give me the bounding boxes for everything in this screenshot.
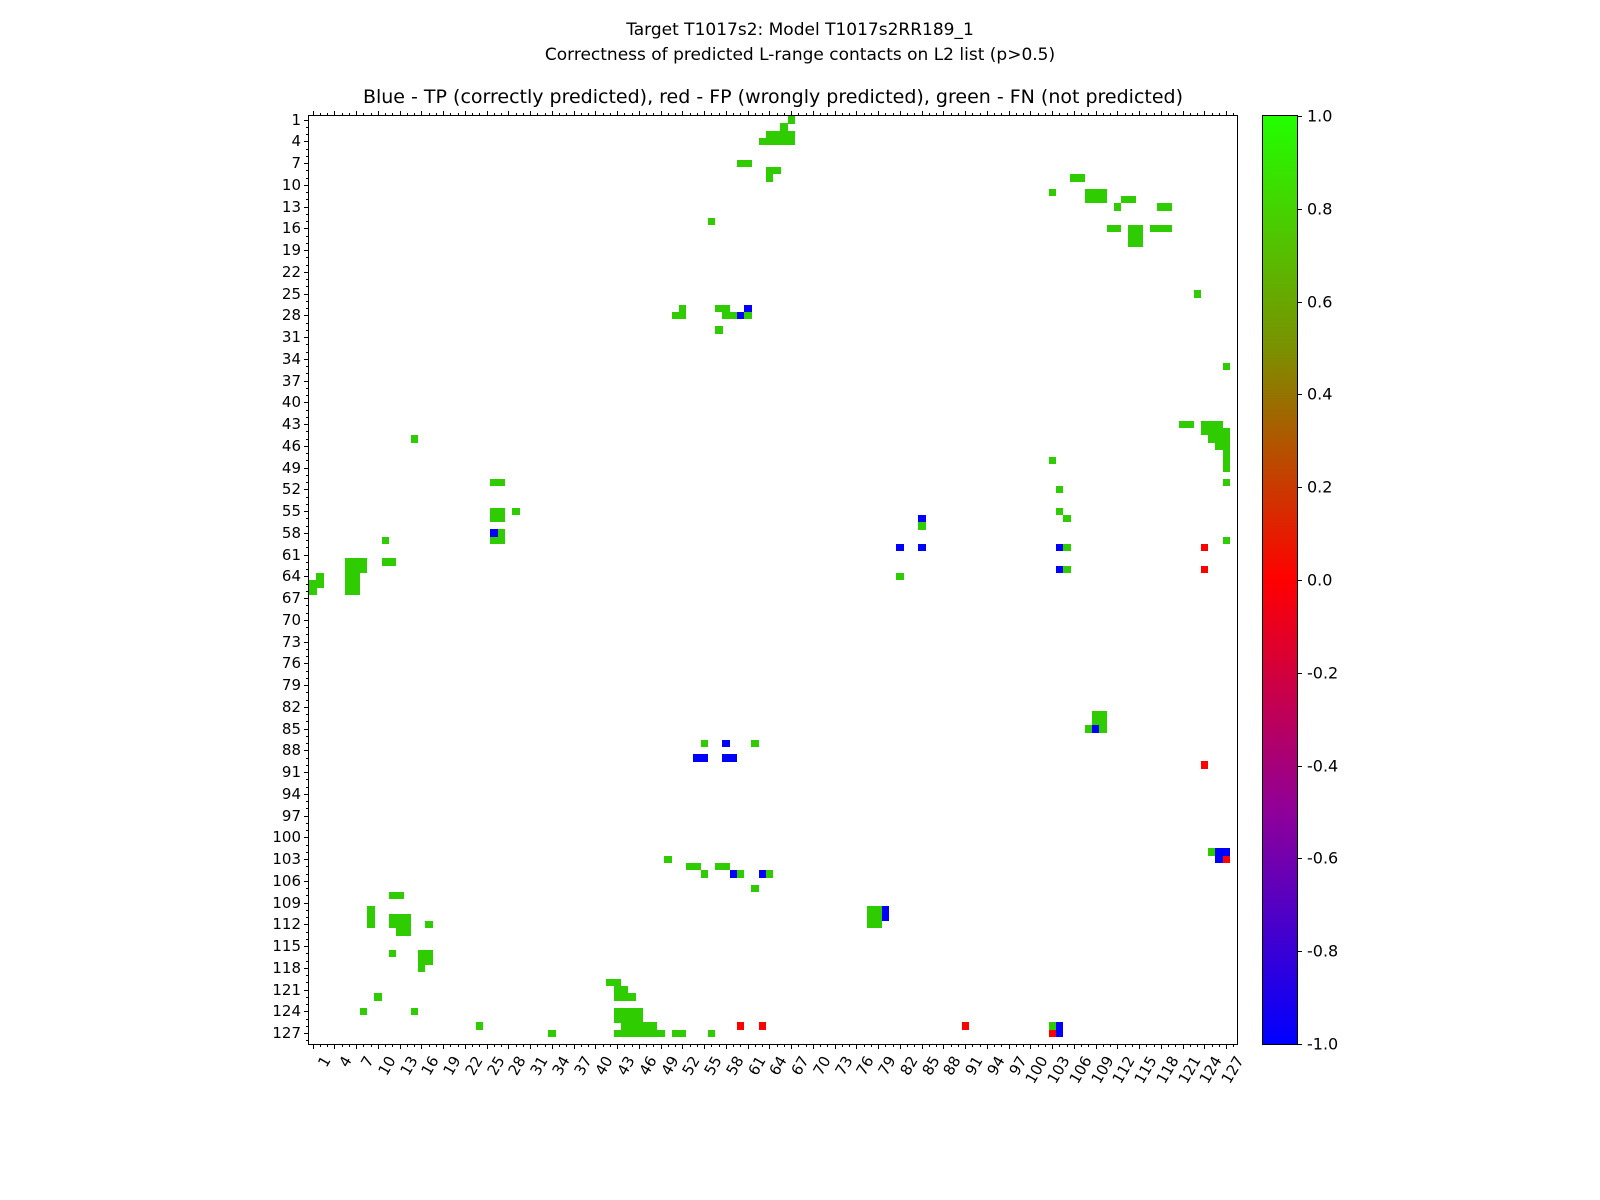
y-tick-minor	[306, 569, 309, 570]
x-tick-minor	[711, 1044, 712, 1047]
x-tick-top	[1001, 113, 1002, 116]
x-tick-top	[1161, 111, 1162, 116]
contact-cell	[759, 1022, 767, 1030]
x-tick-minor	[1110, 1044, 1111, 1047]
x-tick-label: 16	[418, 1053, 443, 1079]
x-tick-top	[501, 113, 502, 116]
y-tick-minor	[306, 975, 309, 976]
y-tick-minor	[306, 591, 309, 592]
x-tick-minor	[1146, 1044, 1147, 1047]
contact-map-plot-area[interactable]: 1471013161922252831343740434649525558616…	[308, 115, 1238, 1045]
contact-cell	[1114, 225, 1122, 233]
y-tick-minor	[306, 917, 309, 918]
x-tick-minor	[697, 1044, 698, 1047]
x-tick-minor	[762, 1044, 763, 1047]
colorbar-tick	[1297, 302, 1302, 303]
x-tick-top	[914, 113, 915, 116]
x-tick-top	[878, 111, 879, 116]
y-tick-label: 70	[282, 611, 301, 629]
x-tick-minor	[653, 1044, 654, 1047]
x-tick-major	[791, 1044, 792, 1049]
x-tick-minor	[392, 1044, 393, 1047]
y-tick-minor	[306, 482, 309, 483]
y-tick-label: 7	[291, 154, 301, 172]
x-tick-minor	[936, 1044, 937, 1047]
contact-cell	[701, 870, 709, 878]
x-tick-major	[965, 1044, 966, 1049]
x-tick-top	[1016, 113, 1017, 116]
x-tick-label: 28	[505, 1053, 530, 1079]
contact-cell	[701, 754, 709, 762]
x-tick-major	[1183, 1044, 1184, 1049]
contact-cell	[316, 580, 324, 588]
y-tick-minor	[306, 497, 309, 498]
y-tick-label: 88	[282, 741, 301, 759]
x-tick-top	[827, 113, 828, 116]
x-tick-minor	[907, 1044, 908, 1047]
y-tick-label: 82	[282, 698, 301, 716]
contact-cell	[1223, 464, 1231, 472]
colorbar-tick	[1297, 1044, 1302, 1045]
contact-cell	[1063, 515, 1071, 523]
x-tick-top	[646, 113, 647, 116]
contact-cell	[1165, 225, 1173, 233]
x-tick-label: 40	[592, 1053, 617, 1079]
x-tick-label: 64	[766, 1053, 791, 1079]
colorbar-gradient	[1263, 116, 1297, 1044]
x-tick-top	[1110, 113, 1111, 116]
contact-cell	[548, 1030, 556, 1038]
x-tick-label: 34	[548, 1053, 573, 1079]
x-tick-minor	[1168, 1044, 1169, 1047]
x-tick-minor	[668, 1044, 669, 1047]
x-tick-minor	[1045, 1044, 1046, 1047]
x-tick-minor	[1212, 1044, 1213, 1047]
x-tick-top	[371, 113, 372, 116]
x-tick-label: 76	[853, 1053, 878, 1079]
y-tick-minor	[306, 127, 309, 128]
y-tick-minor	[306, 134, 309, 135]
x-tick-top	[566, 113, 567, 116]
x-tick-label: 70	[809, 1053, 834, 1079]
x-tick-minor	[414, 1044, 415, 1047]
y-tick-label: 13	[282, 198, 301, 216]
x-tick-top	[1023, 113, 1024, 116]
y-tick-minor	[306, 787, 309, 788]
y-tick-minor	[306, 779, 309, 780]
y-tick-label: 121	[272, 981, 301, 999]
contact-cell	[722, 740, 730, 748]
contact-cell	[1194, 290, 1202, 298]
x-tick-top	[356, 111, 357, 116]
x-tick-minor	[1088, 1044, 1089, 1047]
y-tick-label: 1	[291, 111, 301, 129]
y-tick-minor	[306, 279, 309, 280]
contact-cell	[896, 544, 904, 552]
x-tick-top	[1190, 113, 1191, 116]
contact-cell	[751, 885, 759, 893]
contact-cell	[1049, 189, 1057, 197]
x-tick-top	[1030, 111, 1031, 116]
y-tick-major	[304, 511, 309, 512]
y-tick-minor	[306, 170, 309, 171]
x-tick-top	[980, 113, 981, 116]
contact-cell	[1186, 421, 1194, 429]
colorbar-tick-label: 0.8	[1307, 199, 1332, 218]
contact-cell	[411, 1008, 419, 1016]
x-tick-minor	[740, 1044, 741, 1047]
y-tick-major	[304, 424, 309, 425]
colorbar-tick	[1297, 766, 1302, 767]
x-tick-top	[400, 111, 401, 116]
y-tick-minor	[306, 366, 309, 367]
contact-cell	[1136, 239, 1144, 247]
y-tick-minor	[306, 649, 309, 650]
x-tick-minor	[980, 1044, 981, 1047]
x-tick-minor	[1132, 1044, 1133, 1047]
y-tick-minor	[306, 721, 309, 722]
suptitle-line-2: Correctness of predicted L-range contact…	[0, 43, 1600, 68]
x-tick-label: 19	[440, 1053, 465, 1079]
y-tick-major	[304, 228, 309, 229]
x-tick-top	[530, 111, 531, 116]
y-tick-minor	[306, 845, 309, 846]
colorbar-tick-label: -1.0	[1307, 1035, 1338, 1054]
y-tick-minor	[306, 758, 309, 759]
x-tick-major	[1009, 1044, 1010, 1049]
x-tick-minor	[1175, 1044, 1176, 1047]
y-tick-major	[304, 620, 309, 621]
y-tick-minor	[306, 475, 309, 476]
x-tick-major	[943, 1044, 944, 1049]
y-tick-minor	[306, 656, 309, 657]
x-tick-top	[1139, 111, 1140, 116]
x-tick-top	[1045, 113, 1046, 116]
x-tick-minor	[893, 1044, 894, 1047]
x-tick-top	[603, 113, 604, 116]
y-tick-major	[304, 968, 309, 969]
x-tick-major	[726, 1044, 727, 1049]
contact-cell	[418, 964, 426, 972]
x-tick-minor	[1219, 1044, 1220, 1047]
x-tick-top	[385, 113, 386, 116]
y-tick-minor	[306, 714, 309, 715]
x-tick-top	[1074, 111, 1075, 116]
y-tick-major	[304, 794, 309, 795]
colorbar-tick-label: 0.6	[1307, 292, 1332, 311]
y-tick-major	[304, 685, 309, 686]
x-tick-top	[690, 113, 691, 116]
y-tick-minor	[306, 308, 309, 309]
x-tick-minor	[1125, 1044, 1126, 1047]
x-tick-minor	[842, 1044, 843, 1047]
x-tick-minor	[363, 1044, 364, 1047]
axes-title-legend: Blue - TP (correctly predicted), red - F…	[308, 86, 1238, 108]
x-tick-top	[1132, 113, 1133, 116]
x-tick-top	[465, 111, 466, 116]
contact-cell	[1114, 203, 1122, 211]
x-tick-minor	[494, 1044, 495, 1047]
y-tick-label: 85	[282, 720, 301, 738]
x-tick-top	[1125, 113, 1126, 116]
x-tick-minor	[501, 1044, 502, 1047]
y-tick-label: 46	[282, 437, 301, 455]
x-tick-top	[1103, 113, 1104, 116]
contact-cell	[1056, 486, 1064, 494]
y-tick-minor	[306, 1040, 309, 1041]
x-tick-top	[1096, 111, 1097, 116]
y-tick-minor	[306, 953, 309, 954]
x-tick-top	[740, 113, 741, 116]
y-tick-major	[304, 772, 309, 773]
x-tick-top	[617, 111, 618, 116]
x-tick-top	[907, 113, 908, 116]
x-tick-minor	[1016, 1044, 1017, 1047]
x-tick-major	[400, 1044, 401, 1049]
y-tick-major	[304, 359, 309, 360]
x-tick-top	[421, 111, 422, 116]
colorbar-tick	[1297, 673, 1302, 674]
x-tick-minor	[1081, 1044, 1082, 1047]
x-tick-major	[552, 1044, 553, 1049]
y-tick-major	[304, 163, 309, 164]
y-tick-major	[304, 141, 309, 142]
x-tick-major	[682, 1044, 683, 1049]
x-tick-top	[987, 111, 988, 116]
y-tick-major	[304, 120, 309, 121]
y-tick-minor	[306, 1026, 309, 1027]
colorbar-tick	[1297, 580, 1302, 581]
x-tick-top	[661, 111, 662, 116]
x-tick-top	[675, 113, 676, 116]
x-tick-top	[414, 113, 415, 116]
y-tick-major	[304, 468, 309, 469]
y-tick-label: 16	[282, 219, 301, 237]
y-tick-minor	[306, 888, 309, 889]
x-tick-top	[1038, 113, 1039, 116]
y-tick-major	[304, 315, 309, 316]
x-tick-minor	[806, 1044, 807, 1047]
y-tick-minor	[306, 874, 309, 875]
x-tick-top	[1226, 111, 1227, 116]
y-tick-major	[304, 642, 309, 643]
x-tick-top	[820, 113, 821, 116]
x-tick-top	[1117, 111, 1118, 116]
y-tick-minor	[306, 671, 309, 672]
x-tick-label: 25	[483, 1053, 508, 1079]
x-tick-top	[697, 113, 698, 116]
y-tick-label: 22	[282, 263, 301, 281]
y-tick-label: 55	[282, 502, 301, 520]
y-tick-major	[304, 837, 309, 838]
y-tick-major	[304, 663, 309, 664]
contact-cell	[1165, 203, 1173, 211]
y-tick-label: 40	[282, 393, 301, 411]
x-tick-top	[1204, 111, 1205, 116]
x-tick-top	[363, 113, 364, 116]
x-tick-top	[581, 113, 582, 116]
x-tick-top	[472, 113, 473, 116]
x-tick-top	[1175, 113, 1176, 116]
x-tick-major	[878, 1044, 879, 1049]
x-tick-top	[755, 113, 756, 116]
x-tick-major	[900, 1044, 901, 1049]
x-tick-minor	[1059, 1044, 1060, 1047]
x-tick-top	[508, 111, 509, 116]
y-tick-minor	[306, 736, 309, 737]
y-tick-minor	[306, 149, 309, 150]
x-tick-minor	[1067, 1044, 1068, 1047]
x-tick-top	[769, 111, 770, 116]
x-tick-top	[871, 113, 872, 116]
contact-cell	[918, 544, 926, 552]
x-tick-top	[610, 113, 611, 116]
x-tick-minor	[320, 1044, 321, 1047]
contact-cell	[679, 1030, 687, 1038]
x-tick-minor	[516, 1044, 517, 1047]
y-tick-minor	[306, 286, 309, 287]
x-tick-minor	[914, 1044, 915, 1047]
x-tick-minor	[632, 1044, 633, 1047]
x-tick-label: 127	[1218, 1053, 1248, 1087]
y-tick-minor	[306, 1019, 309, 1020]
y-tick-minor	[306, 265, 309, 266]
x-tick-top	[748, 111, 749, 116]
x-tick-top	[806, 113, 807, 116]
y-tick-major	[304, 990, 309, 991]
y-tick-minor	[306, 395, 309, 396]
y-tick-minor	[306, 982, 309, 983]
y-tick-minor	[306, 221, 309, 222]
x-tick-label: 13	[396, 1053, 421, 1079]
contact-cell	[309, 587, 317, 595]
contact-cell	[657, 1030, 665, 1038]
x-tick-top	[1059, 113, 1060, 116]
x-tick-top	[856, 111, 857, 116]
y-tick-minor	[306, 562, 309, 563]
y-tick-minor	[306, 1004, 309, 1005]
colorbar-tick	[1297, 487, 1302, 488]
x-tick-major	[617, 1044, 618, 1049]
contact-cell	[744, 160, 752, 168]
y-tick-label: 43	[282, 415, 301, 433]
x-tick-major	[639, 1044, 640, 1049]
y-tick-major	[304, 1033, 309, 1034]
x-tick-top	[784, 113, 785, 116]
colorbar-tick	[1297, 209, 1302, 210]
y-tick-label: 97	[282, 807, 301, 825]
x-tick-top	[653, 113, 654, 116]
x-tick-top	[429, 113, 430, 116]
contact-cell	[715, 326, 723, 334]
x-tick-minor	[342, 1044, 343, 1047]
y-tick-minor	[306, 373, 309, 374]
contact-cell	[1078, 174, 1086, 182]
x-tick-minor	[777, 1044, 778, 1047]
x-tick-top	[574, 111, 575, 116]
x-tick-top	[943, 111, 944, 116]
y-tick-major	[304, 816, 309, 817]
x-tick-minor	[559, 1044, 560, 1047]
x-tick-label: 82	[896, 1053, 921, 1079]
x-tick-minor	[798, 1044, 799, 1047]
y-tick-label: 25	[282, 285, 301, 303]
y-tick-major	[304, 250, 309, 251]
x-tick-top	[893, 113, 894, 116]
x-tick-top	[762, 113, 763, 116]
x-tick-major	[508, 1044, 509, 1049]
y-tick-minor	[306, 352, 309, 353]
y-tick-label: 103	[272, 850, 301, 868]
contact-cell	[737, 870, 745, 878]
x-tick-minor	[690, 1044, 691, 1047]
x-tick-top	[494, 113, 495, 116]
contact-cell	[1223, 537, 1231, 545]
x-tick-top	[885, 113, 886, 116]
y-tick-minor	[306, 830, 309, 831]
x-tick-top	[1197, 113, 1198, 116]
x-tick-label: 67	[788, 1053, 813, 1079]
x-tick-top	[704, 111, 705, 116]
y-tick-label: 109	[272, 894, 301, 912]
y-tick-minor	[306, 301, 309, 302]
x-tick-top	[559, 113, 560, 116]
contact-cell	[628, 993, 636, 1001]
contact-cell	[788, 138, 796, 146]
x-tick-major	[1161, 1044, 1162, 1049]
x-tick-label: 73	[831, 1053, 856, 1079]
y-tick-minor	[306, 627, 309, 628]
y-tick-minor	[306, 504, 309, 505]
colorbar: 1.00.80.60.40.20.0-0.2-0.4-0.6-0.8-1.0	[1262, 115, 1298, 1045]
y-tick-label: 91	[282, 763, 301, 781]
colorbar-tick-label: 0.4	[1307, 385, 1332, 404]
y-tick-minor	[306, 852, 309, 853]
y-tick-minor	[306, 910, 309, 911]
y-tick-minor	[306, 997, 309, 998]
x-tick-minor	[371, 1044, 372, 1047]
x-tick-label: 22	[461, 1053, 486, 1079]
x-tick-label: 1	[314, 1053, 334, 1070]
contact-cell	[751, 740, 759, 748]
y-tick-label: 31	[282, 328, 301, 346]
x-tick-major	[465, 1044, 466, 1049]
contact-cell	[737, 1022, 745, 1030]
x-tick-label: 85	[918, 1053, 943, 1079]
y-tick-minor	[306, 214, 309, 215]
x-tick-minor	[603, 1044, 604, 1047]
x-tick-major	[661, 1044, 662, 1049]
x-tick-top	[349, 113, 350, 116]
x-tick-top	[378, 111, 379, 116]
contact-cell	[1128, 196, 1136, 204]
x-tick-label: 37	[570, 1053, 595, 1079]
contact-cell	[1223, 856, 1231, 864]
x-tick-minor	[588, 1044, 589, 1047]
contact-cell	[882, 914, 890, 922]
contact-cell	[918, 522, 926, 530]
x-tick-minor	[755, 1044, 756, 1047]
y-tick-major	[304, 750, 309, 751]
x-tick-minor	[429, 1044, 430, 1047]
y-tick-major	[304, 555, 309, 556]
colorbar-tick	[1297, 116, 1302, 117]
y-tick-minor	[306, 243, 309, 244]
x-tick-top	[922, 111, 923, 116]
x-tick-top	[1088, 113, 1089, 116]
x-tick-top	[1067, 113, 1068, 116]
contact-cell	[875, 921, 883, 929]
